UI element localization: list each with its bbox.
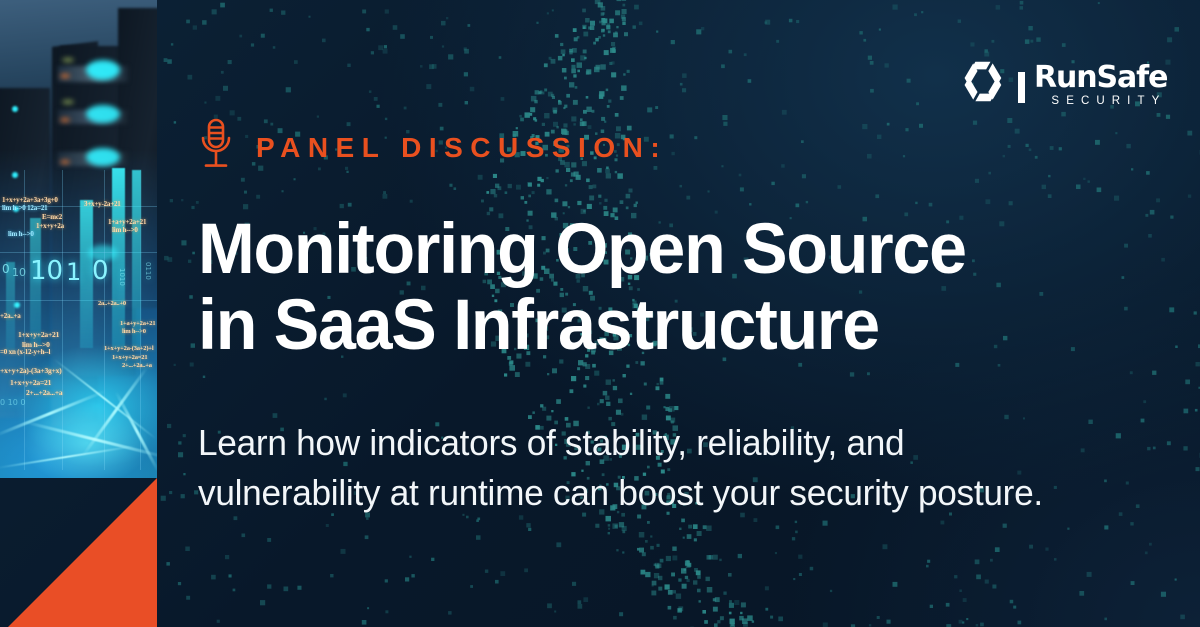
headline-line-2: in SaaS Infrastructure xyxy=(198,288,1062,364)
overlay-equation: 3+x+y-2a+21 xyxy=(84,200,121,208)
overlay-equation: 1+x+y+2a+21 xyxy=(18,330,59,339)
binary-digit: 1 xyxy=(66,258,81,286)
overlay-equation: lim h-->0 xyxy=(112,226,138,234)
subtitle: Learn how indicators of stability, relia… xyxy=(198,418,1124,517)
logo-name: RunSafe xyxy=(1034,64,1167,93)
overlay-equation: E=mc2 xyxy=(42,213,62,221)
overlay-equation: +2a..+a xyxy=(0,312,21,320)
rack-led xyxy=(62,58,74,62)
logo-divider-bar xyxy=(1018,72,1025,103)
promo-banner: 1+x+y+2a+3a+3g+0 lim h->0 12a=21 E=mc2 1… xyxy=(0,0,1200,627)
rack-led xyxy=(86,60,120,80)
binary-digit: 0 xyxy=(2,262,10,276)
rack-led xyxy=(12,106,18,112)
overlay-equation: +x+y+2a)-(3a+3g+x) xyxy=(0,366,62,375)
overlay-equation: lim h->0 12a=21 xyxy=(2,204,47,212)
circuit-glow xyxy=(0,388,157,478)
binary-digit: 1010 xyxy=(118,268,126,286)
eyebrow-label: PANEL DISCUSSION: xyxy=(256,134,667,162)
overlay-equation: 1+x+y+2a=21 xyxy=(10,378,51,387)
page-title: Monitoring Open Source in SaaS Infrastru… xyxy=(198,212,1062,364)
binary-digit: 0110 xyxy=(144,262,152,280)
overlay-equation: 1+x+y+2a+3a+3g+0 xyxy=(2,196,58,204)
overlay-equation: 1+x+y+2a=21 xyxy=(112,354,147,361)
headline-line-1: Monitoring Open Source xyxy=(198,212,1062,288)
rack-led xyxy=(60,118,70,122)
overlay-equation: 1+x+y+2a-(3a+2)+l xyxy=(104,345,153,352)
rack-led xyxy=(62,100,74,104)
logo-wordmark: RunSafe SECURITY xyxy=(1034,64,1167,109)
binary-digit: 0 xyxy=(92,256,109,286)
overlay-equation: 1+a+y+2a+21 xyxy=(108,218,146,226)
binary-digit: 10 xyxy=(30,256,63,286)
rack-led xyxy=(60,74,70,78)
hexagon-cube-icon xyxy=(957,58,1011,117)
rack-led xyxy=(86,105,120,123)
overlay-equation: 1+a+y+2a+21 xyxy=(120,320,155,327)
overlay-equation: =0 xn (x-12-y+h--l xyxy=(0,348,50,356)
microphone-icon xyxy=(198,118,234,177)
subhead-line-1: Learn how indicators of stability, relia… xyxy=(198,418,1124,468)
overlay-equation: lim h-->0 xyxy=(122,328,146,335)
server-rack-photo: 1+x+y+2a+3a+3g+0 lim h->0 12a=21 E=mc2 1… xyxy=(0,0,157,478)
eyebrow: PANEL DISCUSSION: xyxy=(198,118,667,177)
binary-digit: 10 xyxy=(12,266,26,279)
runsafe-logo[interactable]: RunSafe SECURITY xyxy=(957,58,1167,116)
overlay-equation: 2a..+2a..+0 xyxy=(98,300,126,307)
overlay-equation: 1+x+y+2a xyxy=(36,222,64,230)
subhead-line-2: vulnerability at runtime can boost your … xyxy=(198,468,1124,518)
overlay-equation: lim h-->0 xyxy=(8,230,34,238)
logo-tagline: SECURITY xyxy=(1034,93,1167,110)
